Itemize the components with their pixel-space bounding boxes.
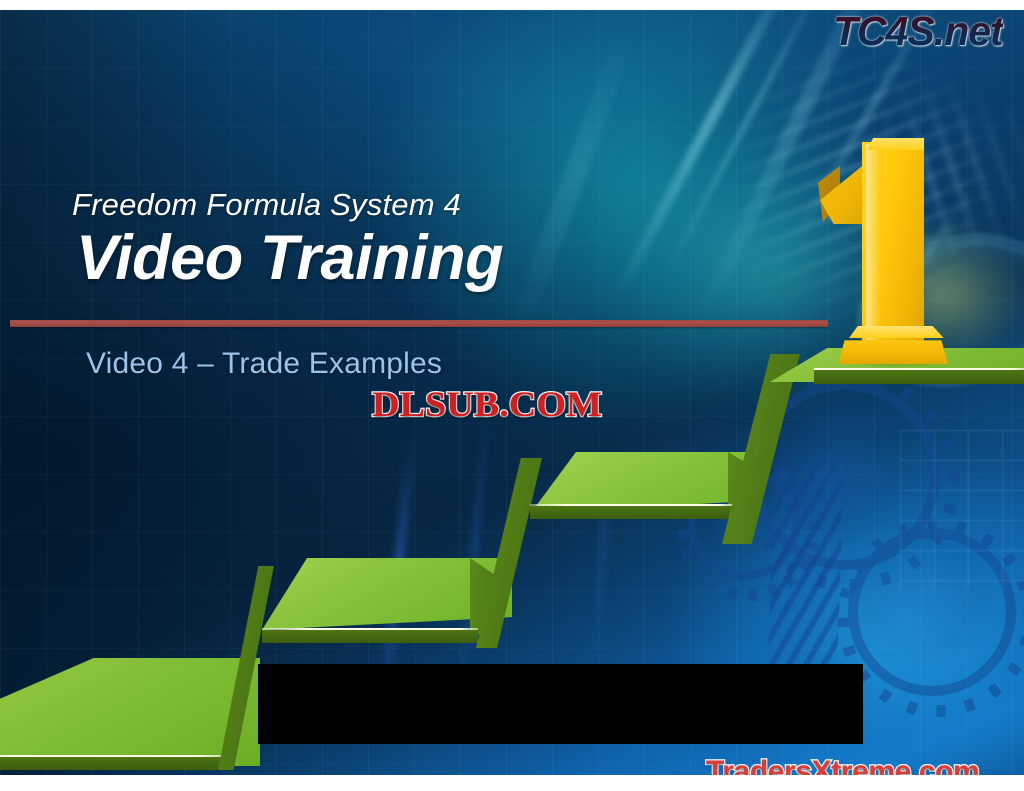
black-redaction-box bbox=[258, 664, 863, 744]
step-1-front bbox=[0, 757, 226, 770]
step-4-front bbox=[814, 370, 1024, 384]
watermark-tc4s: TC4S.net bbox=[833, 10, 1003, 55]
step-2-3-riser bbox=[476, 458, 542, 648]
numeral-top-bevel bbox=[862, 138, 924, 150]
watermark-tradersxtreme: TradersXtreme.com bbox=[706, 755, 979, 775]
step-1-tread bbox=[0, 658, 260, 766]
step-2-front bbox=[262, 630, 478, 643]
golden-number-one-graphic bbox=[818, 130, 968, 370]
numeral-stem-shine bbox=[866, 144, 880, 340]
step-3-front bbox=[530, 506, 736, 519]
slide-root: Freedom Formula System 4 Video Training … bbox=[0, 0, 1024, 791]
step-3-4-riser bbox=[722, 354, 800, 544]
watermark-dlsub: DLSUB.COM bbox=[372, 383, 602, 425]
presentation-slide: Freedom Formula System 4 Video Training … bbox=[0, 10, 1024, 775]
numeral-base-bevel bbox=[838, 326, 948, 338]
